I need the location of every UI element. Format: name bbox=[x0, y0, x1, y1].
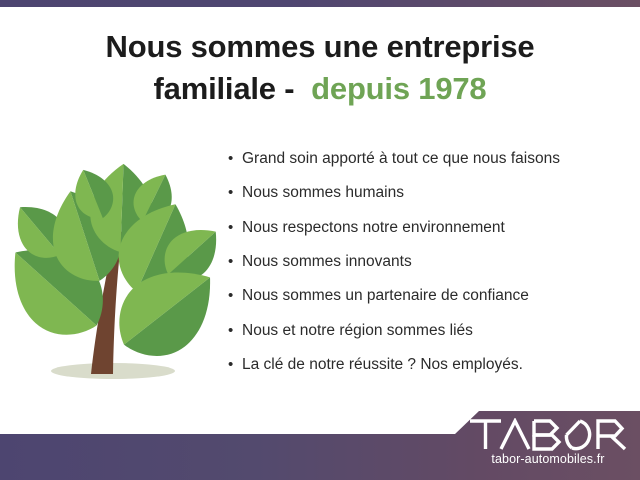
list-item: • Nous sommes innovants bbox=[228, 253, 628, 271]
brand-tagline: tabor-automobiles.fr bbox=[468, 452, 628, 466]
bullet-icon: • bbox=[228, 151, 242, 166]
list-item: • Grand soin apporté à tout ce que nous … bbox=[228, 150, 628, 168]
headline-line-2: familiale - depuis 1978 bbox=[0, 68, 640, 110]
top-accent-strip bbox=[0, 0, 640, 7]
bullet-icon: • bbox=[228, 288, 242, 303]
brand-logo[interactable]: tabor-automobiles.fr bbox=[468, 418, 628, 466]
list-item: • La clé de notre réussite ? Nos employé… bbox=[228, 356, 628, 374]
bullet-icon: • bbox=[228, 185, 242, 200]
page-title: Nous sommes une entreprise familiale - d… bbox=[0, 26, 640, 111]
list-item-label: Nous sommes un partenaire de confiance bbox=[242, 287, 529, 305]
list-item: • Nous sommes un partenaire de confiance bbox=[228, 287, 628, 305]
list-item: • Nous sommes humains bbox=[228, 184, 628, 202]
list-item: • Nous et notre région sommes liés bbox=[228, 322, 628, 340]
bullet-icon: • bbox=[228, 323, 242, 338]
list-item-label: Nous respectons notre environnement bbox=[242, 219, 505, 237]
list-item-label: Grand soin apporté à tout ce que nous fa… bbox=[242, 150, 560, 168]
slide-canvas: Nous sommes une entreprise familiale - d… bbox=[0, 0, 640, 480]
bullet-icon: • bbox=[228, 357, 242, 372]
list-item-label: La clé de notre réussite ? Nos employés. bbox=[242, 356, 523, 374]
headline-line-1: Nous sommes une entreprise bbox=[0, 26, 640, 68]
tree-illustration bbox=[12, 152, 222, 390]
bullet-icon: • bbox=[228, 220, 242, 235]
headline-accent: depuis 1978 bbox=[311, 71, 486, 106]
list-item-label: Nous sommes humains bbox=[242, 184, 404, 202]
list-item-label: Nous sommes innovants bbox=[242, 253, 412, 271]
feature-list: • Grand soin apporté à tout ce que nous … bbox=[228, 150, 628, 390]
headline-line-2-main: familiale - bbox=[154, 71, 312, 106]
list-item: • Nous respectons notre environnement bbox=[228, 219, 628, 237]
tabor-wordmark-icon bbox=[468, 418, 628, 451]
list-item-label: Nous et notre région sommes liés bbox=[242, 322, 473, 340]
bullet-icon: • bbox=[228, 254, 242, 269]
footer-bar: tabor-automobiles.fr bbox=[0, 405, 640, 480]
